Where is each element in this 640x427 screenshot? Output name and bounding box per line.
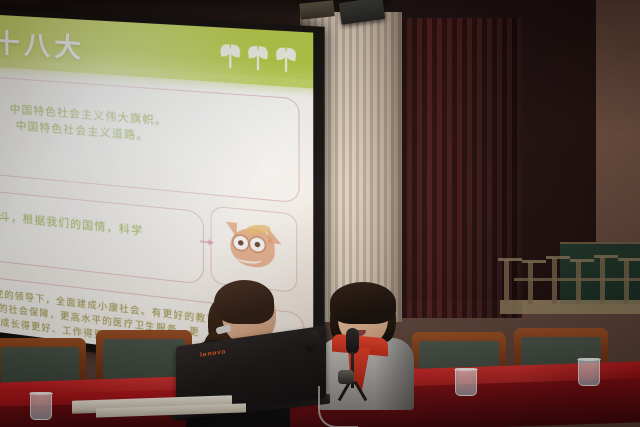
sprout-icon [249, 44, 267, 71]
slide-title: 十八大 [0, 23, 85, 66]
cable [318, 386, 358, 427]
woman-hair [214, 280, 274, 324]
child-hair [330, 282, 396, 324]
water-cup [578, 358, 600, 386]
cartoon-cat-mascot-icon [224, 220, 282, 277]
sprout-icon [221, 42, 239, 68]
slide-box-2 [0, 188, 204, 285]
stacked-chairs [500, 252, 640, 314]
slide-box-1 [0, 75, 300, 204]
water-cup [455, 368, 477, 396]
sprout-icon-group [221, 42, 295, 72]
photo-scene: 十八大 中国特色社会主义伟大旗帜。 [0, 0, 640, 427]
sprout-icon [277, 46, 295, 73]
mic-base-knob [338, 370, 354, 384]
water-cup [30, 392, 52, 420]
